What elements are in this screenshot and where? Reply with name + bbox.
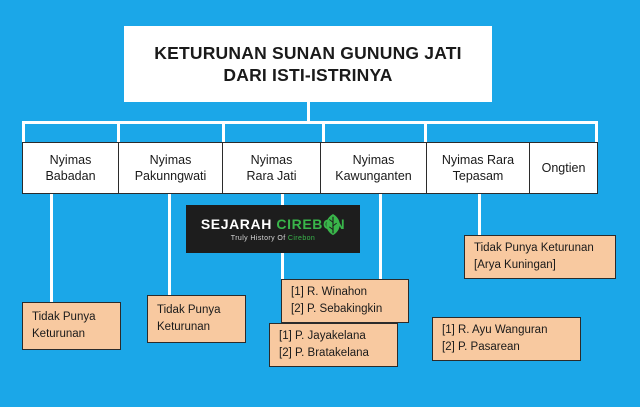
descendant-line-1: Tidak Punya — [32, 309, 96, 326]
page-title: KETURUNAN SUNAN GUNUNG JATI DARI ISTI-IS… — [154, 42, 461, 87]
diagram-title-box: KETURUNAN SUNAN GUNUNG JATI DARI ISTI-IS… — [124, 26, 492, 102]
connector-wife-5-down — [478, 193, 481, 236]
descendant-box-kawunganten: [1] R. Ayu Wanguran [2] P. Pasarean — [432, 317, 581, 361]
descendant-line-2: [2] P. Pasarean — [442, 339, 520, 356]
descendant-line-1: Tidak Punya Keturunan — [474, 240, 594, 257]
descendant-box-babadan: Tidak Punya Keturunan — [22, 302, 121, 350]
descendant-line-2: Keturunan — [32, 326, 85, 343]
wife-box-ongtien: Ongtien — [529, 142, 598, 194]
title-line-1: KETURUNAN SUNAN GUNUNG JATI — [154, 42, 461, 64]
diagram-canvas: KETURUNAN SUNAN GUNUNG JATI DARI ISTI-IS… — [0, 0, 640, 407]
descendant-box-rara-jati-1: [1] R. Winahon [2] P. Sebakingkin — [281, 279, 409, 323]
wife-box-babadan: Nyimas Babadan — [22, 142, 119, 194]
descendant-line-1: [1] R. Ayu Wanguran — [442, 322, 547, 339]
descendant-box-pakunngwati: Tidak Punya Keturunan — [147, 295, 246, 343]
watermark-subtitle-accent: Cirebon — [288, 235, 315, 242]
title-line-2: DARI ISTI-ISTRINYA — [154, 64, 461, 86]
watermark: SEJARAH CIREBON Truly History Of Cirebon — [186, 205, 360, 253]
wife-name-line-2: Babadan — [45, 168, 95, 184]
connector-wife-5-up — [424, 121, 427, 143]
descendant-box-rara-tepasam: Tidak Punya Keturunan [Arya Kuningan] — [464, 235, 616, 279]
connector-wife-6-up — [595, 121, 598, 143]
wife-box-rara-jati: Nyimas Rara Jati — [222, 142, 321, 194]
connector-wife-4-up — [322, 121, 325, 143]
wife-name-line-2: Pakunngwati — [135, 168, 207, 184]
descendant-line-2: Keturunan — [157, 319, 210, 336]
connector-wife-2-down — [168, 193, 171, 296]
descendant-line-1: [1] R. Winahon — [291, 284, 367, 301]
watermark-title-white: SEJARAH — [201, 216, 277, 232]
connector-title-down — [307, 102, 310, 123]
wife-name-line-1: Ongtien — [542, 160, 586, 176]
wife-name-line-1: Nyimas — [335, 152, 411, 168]
descendant-line-2: [2] P. Sebakingkin — [291, 301, 382, 318]
wife-name-line-1: Nyimas — [246, 152, 296, 168]
connector-wife-1-up — [22, 121, 25, 143]
descendant-line-1: Tidak Punya — [157, 302, 221, 319]
descendant-box-rara-jati-2: [1] P. Jayakelana [2] P. Bratakelana — [269, 323, 398, 367]
connector-horizontal-bus — [22, 121, 598, 124]
descendant-line-2: [Arya Kuningan] — [474, 257, 556, 274]
connector-wife-1-down — [50, 193, 53, 303]
wife-box-kawunganten: Nyimas Kawunganten — [320, 142, 427, 194]
wife-name-line-1: Nyimas — [135, 152, 207, 168]
wife-name-line-1: Nyimas Rara — [442, 152, 514, 168]
watermark-subtitle: Truly History Of Cirebon — [231, 235, 315, 242]
connector-wife-3-up — [222, 121, 225, 143]
descendant-line-1: [1] P. Jayakelana — [279, 328, 366, 345]
wife-name-line-2: Kawunganten — [335, 168, 411, 184]
wife-name-line-2: Rara Jati — [246, 168, 296, 184]
leaf-icon — [322, 213, 344, 237]
connector-wife-2-up — [117, 121, 120, 143]
wife-name-line-1: Nyimas — [45, 152, 95, 168]
wife-box-pakunngwati: Nyimas Pakunngwati — [118, 142, 223, 194]
wife-box-rara-tepasam: Nyimas Rara Tepasam — [426, 142, 530, 194]
wife-name-line-2: Tepasam — [442, 168, 514, 184]
watermark-subtitle-pre: Truly History Of — [231, 235, 288, 242]
descendant-line-2: [2] P. Bratakelana — [279, 345, 369, 362]
